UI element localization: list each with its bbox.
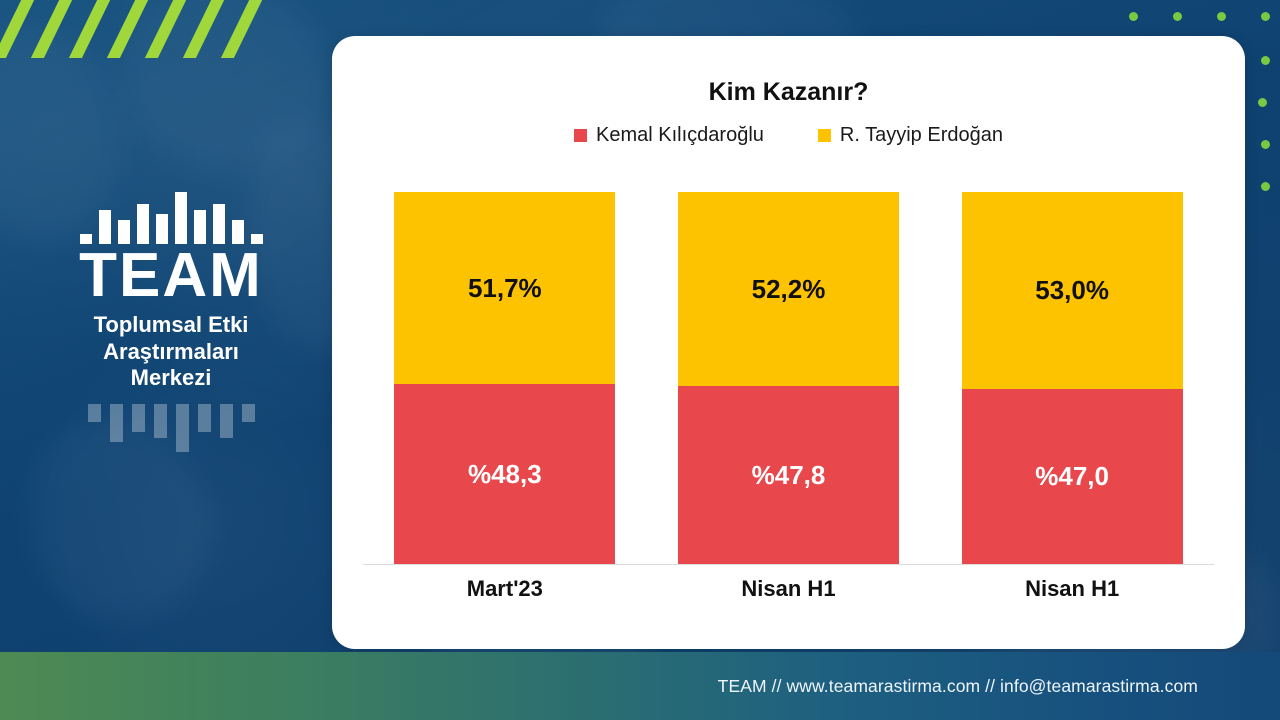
diagonal-stripes-decoration: [0, 0, 262, 58]
x-axis-line: [363, 564, 1214, 565]
bar-segment-erdogan-1[interactable]: 52,2%: [678, 192, 899, 386]
bar-segment-erdogan-0[interactable]: 51,7%: [394, 192, 615, 384]
stacked-bar-group: 51,7% %48,3 52,2% %47,8 53,0% %47,0: [363, 192, 1214, 564]
logo-wordmark: TEAM: [56, 246, 286, 307]
logo-tagline-line-3: Merkezi: [56, 365, 286, 392]
legend-item-erdogan[interactable]: R. Tayyip Erdoğan: [818, 124, 1003, 147]
footer-contact-text: TEAM // www.teamarastirma.com // info@te…: [718, 652, 1198, 720]
bar-segment-kilicdaroglu-2[interactable]: %47,0: [962, 389, 1183, 564]
legend-swatch-yellow: [818, 129, 831, 142]
bar-column-0[interactable]: 51,7% %48,3: [394, 192, 615, 564]
chart-legend: Kemal Kılıçdaroğlu R. Tayyip Erdoğan: [332, 124, 1245, 147]
bar-segment-kilicdaroglu-1[interactable]: %47,8: [678, 386, 899, 564]
chart-plot-area: 51,7% %48,3 52,2% %47,8 53,0% %47,0 Mart…: [363, 156, 1214, 601]
bar-column-2[interactable]: 53,0% %47,0: [962, 192, 1183, 564]
logo-tagline-line-1: Toplumsal Etki: [56, 312, 286, 339]
logo-tagline-line-2: Araştırmaları: [56, 339, 286, 366]
legend-label-erdogan: R. Tayyip Erdoğan: [840, 124, 1003, 147]
logo-tagline: Toplumsal Etki Araştırmaları Merkezi: [56, 312, 286, 392]
x-axis-label-1: Nisan H1: [678, 576, 899, 602]
x-axis-labels: Mart'23 Nisan H1 Nisan H1: [363, 576, 1214, 602]
x-axis-label-2: Nisan H1: [962, 576, 1183, 602]
logo-bars-top: [56, 182, 286, 244]
bar-segment-kilicdaroglu-0[interactable]: %48,3: [394, 384, 615, 564]
legend-item-kilicdaroglu[interactable]: Kemal Kılıçdaroğlu: [574, 124, 764, 147]
chart-title: Kim Kazanır?: [332, 78, 1245, 107]
bar-column-1[interactable]: 52,2% %47,8: [678, 192, 899, 564]
logo-bars-bottom: [56, 404, 286, 454]
legend-label-kilicdaroglu: Kemal Kılıçdaroğlu: [596, 124, 764, 147]
team-logo: TEAM Toplumsal Etki Araştırmaları Merkez…: [56, 182, 286, 454]
x-axis-label-0: Mart'23: [394, 576, 615, 602]
chart-card: Kim Kazanır? Kemal Kılıçdaroğlu R. Tayyi…: [332, 36, 1245, 649]
legend-swatch-red: [574, 129, 587, 142]
bar-segment-erdogan-2[interactable]: 53,0%: [962, 192, 1183, 389]
